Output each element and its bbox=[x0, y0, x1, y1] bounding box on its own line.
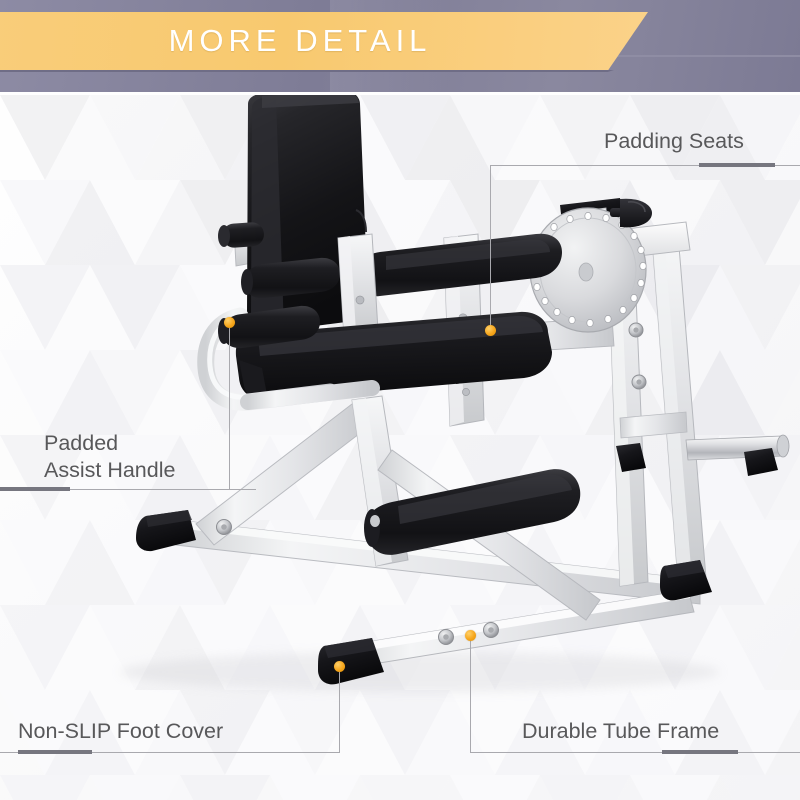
callout-leader-padding-seats bbox=[490, 165, 491, 331]
callout-rule-durable-tube-frame bbox=[470, 752, 800, 753]
mast-hole bbox=[462, 388, 469, 395]
header-strip-edge bbox=[0, 92, 800, 95]
base-rail-front-highlight bbox=[330, 590, 690, 656]
leg-curl-roller-cap bbox=[370, 515, 380, 527]
callout-label-durable-tube-frame: Durable Tube Frame bbox=[522, 718, 719, 745]
lever-bar-grip bbox=[744, 448, 778, 476]
callout-marker-padding-seats[interactable] bbox=[485, 325, 496, 336]
bolt-center bbox=[443, 634, 449, 640]
infographic-page: MORE DETAIL Padding Seats Padded Assist … bbox=[0, 0, 800, 800]
callout-leader-non-slip-foot-cover bbox=[339, 670, 340, 752]
lever-bar-end bbox=[777, 435, 789, 457]
callout-marker-padded-assist-handle[interactable] bbox=[224, 317, 235, 328]
disc-hub bbox=[579, 263, 593, 281]
banner-step-line bbox=[601, 55, 800, 57]
callout-marker-non-slip-foot-cover[interactable] bbox=[334, 661, 345, 672]
callout-marker-durable-tube-frame[interactable] bbox=[465, 630, 476, 641]
callout-label-padding-seats: Padding Seats bbox=[604, 128, 744, 155]
bracket-hole bbox=[356, 296, 364, 304]
arm-pad-upper bbox=[218, 222, 265, 249]
lever-bar bbox=[686, 435, 789, 476]
bolt-center bbox=[636, 379, 641, 384]
arm-pad-upper-end bbox=[218, 225, 230, 247]
callout-leader-durable-tube-frame bbox=[470, 640, 471, 752]
callout-rule-accent-padding-seats bbox=[699, 163, 775, 167]
callout-leader-padded-assist-handle bbox=[229, 327, 230, 489]
product-illustration bbox=[0, 0, 800, 800]
callout-rule-accent-non-slip-foot-cover bbox=[18, 750, 92, 754]
callout-label-non-slip-foot-cover: Non-SLIP Foot Cover bbox=[18, 718, 223, 745]
bolt-center bbox=[488, 627, 494, 633]
roller-bracket bbox=[338, 234, 378, 336]
ground-shadow bbox=[120, 652, 720, 692]
callout-label-padded-assist-handle: Padded Assist Handle bbox=[44, 430, 175, 484]
callout-rule-accent-padded-assist-handle bbox=[0, 487, 70, 491]
banner-underline bbox=[0, 70, 614, 72]
leg-curl-roller-end bbox=[364, 509, 380, 547]
callout-rule-accent-durable-tube-frame bbox=[662, 750, 738, 754]
page-title: MORE DETAIL bbox=[0, 12, 600, 70]
bolt-center bbox=[633, 327, 638, 332]
thigh-roller-secondary-end bbox=[241, 269, 253, 295]
bolt-center bbox=[221, 524, 227, 530]
